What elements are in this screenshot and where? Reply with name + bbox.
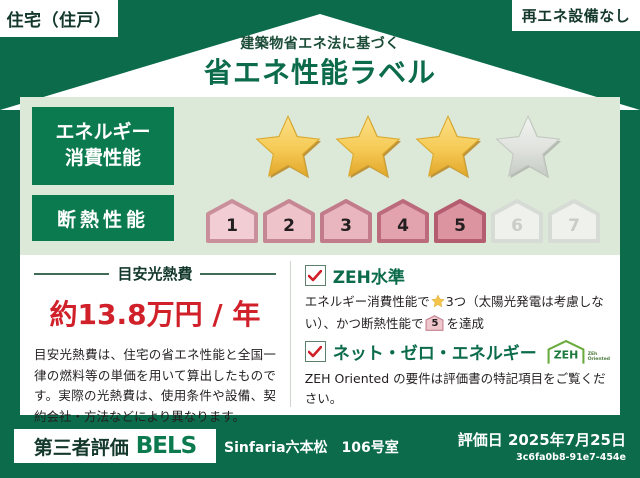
header-text: 建築物省エネ法に基づく 省エネ性能ラベル xyxy=(0,36,640,90)
net-zero-energy-block: ネット・ゼロ・エネルギー ZEH ZEhOriented ZEH Oriente… xyxy=(305,339,610,410)
grade-number: 5 xyxy=(433,216,487,236)
label-card: エネルギー 消費性能 断熱性能 1234567 目安光熱費 約13.8万円 / … xyxy=(20,97,620,415)
bels-jp-label: 第三者評価 xyxy=(34,433,129,460)
category-energy-line2: 消費性能 xyxy=(65,146,141,172)
zeh-body-pre: エネルギー消費性能で xyxy=(305,294,430,309)
evaluation-info: 評価日 2025年7月25日 3c6fa0b8-91e7-454e xyxy=(458,429,626,463)
utility-cost-value: 約13.8万円 / 年 xyxy=(34,293,276,333)
check-icon xyxy=(305,341,326,362)
lower-content: 目安光熱費 約13.8万円 / 年 目安光熱費は、住宅の省エネ性能と全国一律の燃… xyxy=(20,255,620,415)
property-name: Sinfaria六本松 106号室 xyxy=(224,437,399,457)
zeh-standard-block: ZEH水準 エネルギー消費性能で3つ（太陽光発電は考慮しない）、かつ断熱性能で5… xyxy=(305,263,610,335)
star-empty-icon xyxy=(492,113,564,181)
utility-cost-section: 目安光熱費 約13.8万円 / 年 目安光熱費は、住宅の省エネ性能と全国一律の燃… xyxy=(20,255,290,415)
grade-number: 1 xyxy=(205,216,259,236)
grade-number: 2 xyxy=(262,216,316,236)
check-icon xyxy=(305,265,326,286)
insulation-grade-2: 2 xyxy=(262,199,316,243)
svg-text:ZEH: ZEH xyxy=(553,348,578,361)
grade-number: 3 xyxy=(319,216,373,236)
zeh-standard-title: ZEH水準 xyxy=(333,263,405,288)
star-filled-icon xyxy=(252,113,324,181)
insulation-grade-scale: 1234567 xyxy=(205,193,610,243)
grade-number: 6 xyxy=(490,216,544,236)
utility-cost-heading: 目安光熱費 xyxy=(34,263,276,284)
category-insulation-label: 断熱性能 xyxy=(57,205,149,232)
heading-rule-left xyxy=(34,273,109,275)
zeh-section: ZEH水準 エネルギー消費性能で3つ（太陽光発電は考慮しない）、かつ断熱性能で5… xyxy=(291,255,620,415)
zeh-logo-subtext: ZEhOriented xyxy=(588,352,610,364)
net-zero-title: ネット・ゼロ・エネルギー xyxy=(333,339,537,364)
bels-en-label: BELS xyxy=(136,433,196,459)
insulation-grade-5: 5 xyxy=(433,199,487,243)
category-energy-performance: エネルギー 消費性能 xyxy=(32,107,174,185)
zeh-logo: ZEH ZEhOriented xyxy=(546,339,610,365)
category-energy-line1: エネルギー xyxy=(55,120,150,146)
category-insulation-performance: 断熱性能 xyxy=(32,195,174,241)
insulation-grade-4: 4 xyxy=(376,199,430,243)
zeh-standard-body: エネルギー消費性能で3つ（太陽光発電は考慮しない）、かつ断熱性能で5を達成 xyxy=(305,292,610,335)
star-filled-icon xyxy=(412,113,484,181)
utility-cost-heading-text: 目安光熱費 xyxy=(117,263,192,284)
bels-logo: 第三者評価 BELS xyxy=(14,429,216,463)
insulation-grade-3: 3 xyxy=(319,199,373,243)
page-title: 省エネ性能ラベル xyxy=(0,55,640,90)
insulation-grade-6: 6 xyxy=(490,199,544,243)
heading-rule-right xyxy=(200,273,275,275)
bels-energy-label: 住宅（住戸） 再エネ設備なし 建築物省エネ法に基づく 省エネ性能ラベル エネルギ… xyxy=(0,0,640,478)
utility-cost-note: 目安光熱費は、住宅の省エネ性能と全国一律の燃料等の単価を用いて算出したものです。… xyxy=(34,345,276,428)
inline-grade-badge: 5 xyxy=(425,315,444,331)
check-mark-icon xyxy=(308,270,322,282)
insulation-grade-1: 1 xyxy=(205,199,259,243)
evaluation-date: 評価日 2025年7月25日 xyxy=(458,429,626,450)
check-mark-icon xyxy=(308,346,322,358)
insulation-grade-7: 7 xyxy=(547,199,601,243)
header-subtitle: 建築物省エネ法に基づく xyxy=(0,36,640,53)
tag-housing-type: 住宅（住戸） xyxy=(0,0,118,37)
zeh-standard-title-row: ZEH水準 xyxy=(305,263,610,288)
grade-number: 7 xyxy=(547,216,601,236)
energy-star-rating xyxy=(252,109,608,185)
star-filled-icon xyxy=(332,113,404,181)
footer-bar: 第三者評価 BELS Sinfaria六本松 106号室 評価日 2025年7月… xyxy=(0,423,640,478)
zeh-body-post: を達成 xyxy=(446,316,484,331)
inline-star-icon xyxy=(431,296,445,311)
grade-number: 4 xyxy=(376,216,430,236)
net-zero-title-row: ネット・ゼロ・エネルギー ZEH ZEhOriented xyxy=(305,339,610,365)
zeh-house-logo-icon: ZEH xyxy=(546,339,586,365)
inline-grade-badge-number: 5 xyxy=(425,319,444,329)
evaluation-id: 3c6fa0b8-91e7-454e xyxy=(458,452,626,463)
tag-renewable-energy: 再エネ設備なし xyxy=(512,0,640,31)
net-zero-body: ZEH Oriented の要件は評価書の特記項目をご覧ください。 xyxy=(305,369,610,410)
